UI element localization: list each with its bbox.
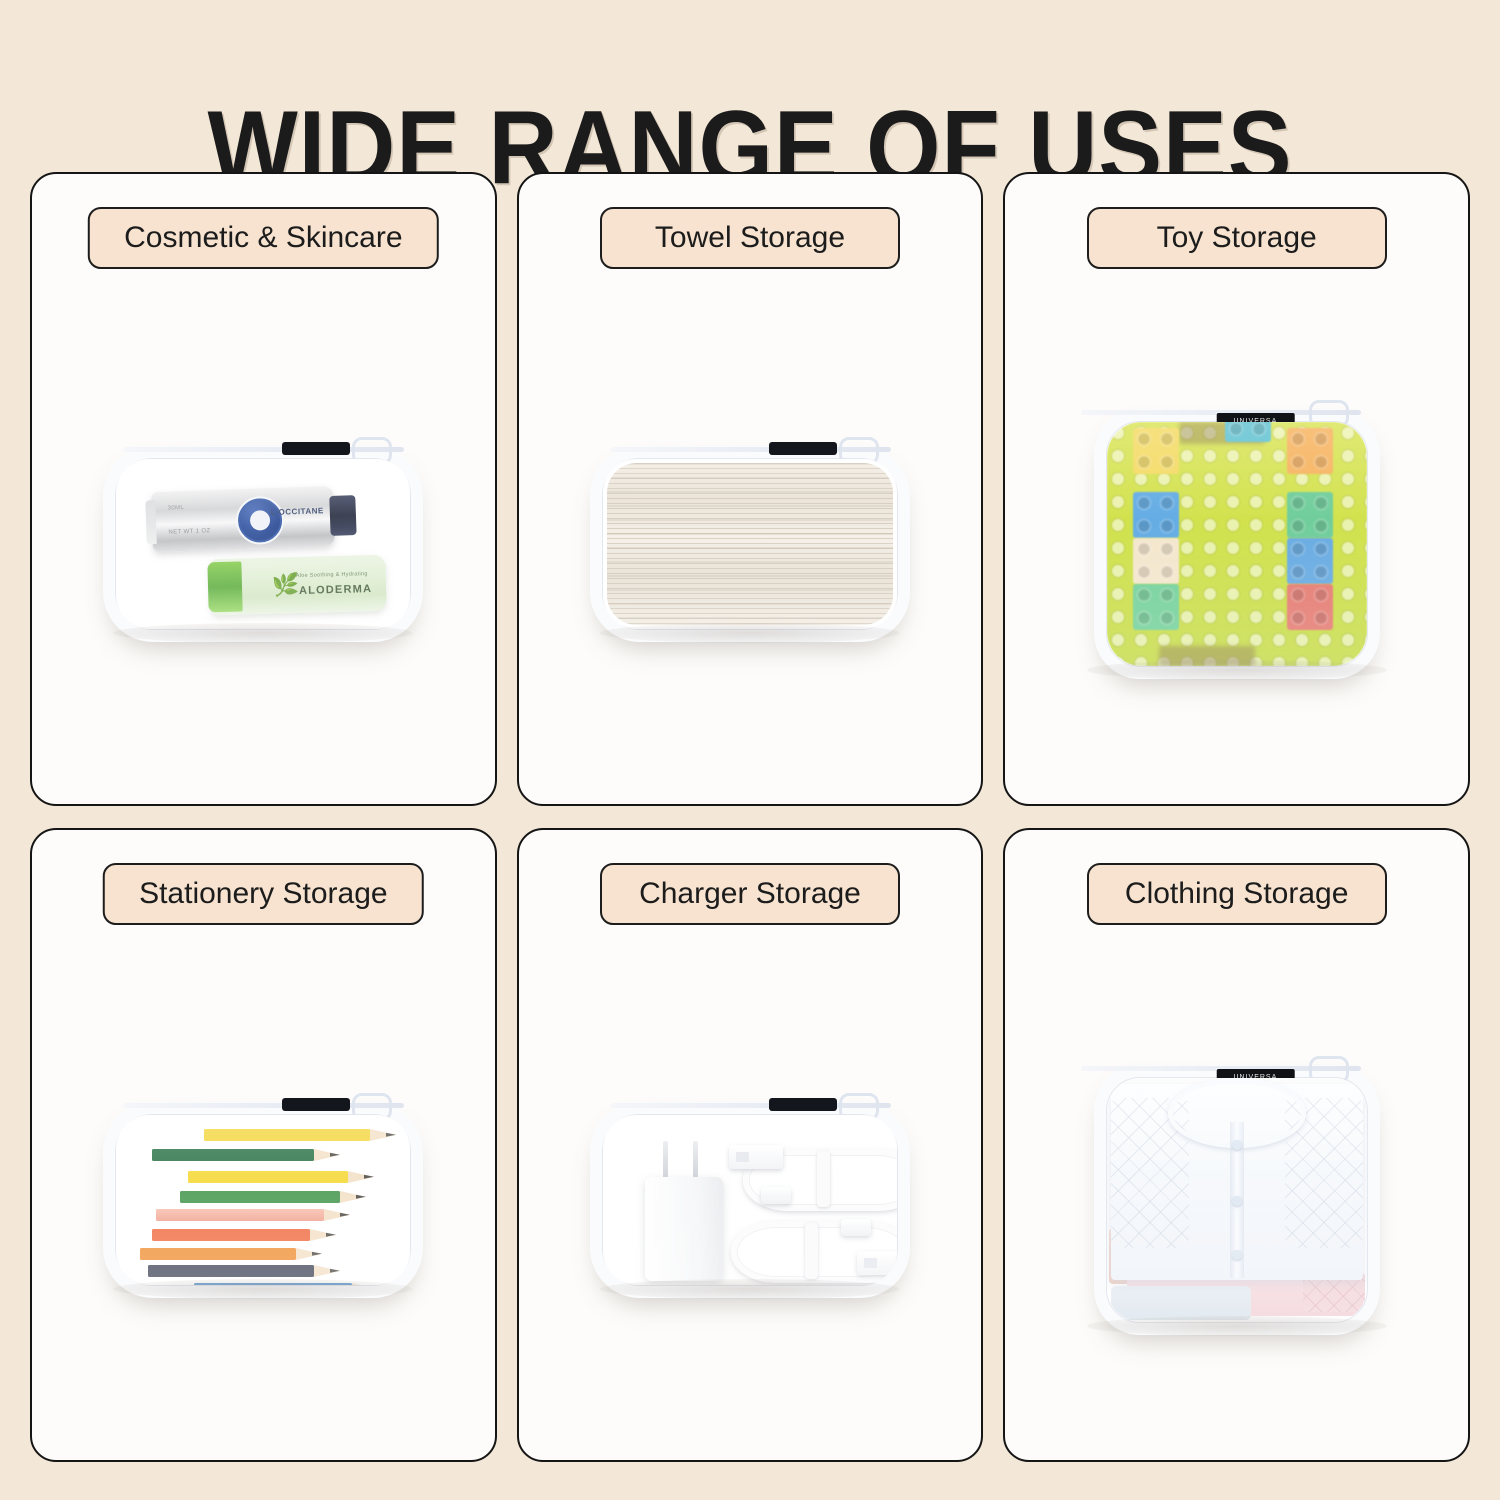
lego-brick-green-right — [1287, 492, 1333, 538]
pouch-window-stationery — [116, 1115, 410, 1285]
card-label-cosmetic-skincare: Cosmetic & Skincare — [88, 207, 438, 269]
card-label-charger-storage: Charger Storage — [600, 863, 900, 925]
charger-prong-right-icon — [693, 1141, 698, 1177]
lego-brick-blue-right — [1287, 538, 1333, 584]
clear-pouch-cosmetic: 30ML NET WT 1 OZ L'OCCITANE 🌿 Aloe Sooth… — [103, 446, 423, 642]
pencil-lead-icon — [364, 1175, 374, 1179]
pencil-dark-green — [152, 1149, 314, 1161]
use-card-stationery-storage: Stationery Storage — [30, 828, 497, 1462]
card-image-stationery-storage — [32, 940, 495, 1460]
pencil-lead-icon — [312, 1252, 322, 1256]
clear-pouch-stationery — [103, 1102, 423, 1298]
usb-c-connector-icon — [761, 1187, 791, 1204]
lego-brick-red — [1287, 584, 1333, 630]
card-image-toy-storage: UNIVERSA — [1005, 284, 1468, 804]
uses-grid: Cosmetic & Skincare 30ML NET WT 1 OZ L'O… — [30, 172, 1470, 1462]
folded-towel — [607, 463, 893, 625]
zipper-towel — [761, 439, 881, 461]
tube-cap-navy-icon — [330, 495, 357, 536]
pencil-lead-icon — [330, 1153, 340, 1157]
clear-pouch-charger — [590, 1102, 910, 1298]
tube-brand-sub-text: Aloe Soothing & Hydrating — [296, 571, 368, 579]
zipper-charger — [761, 1095, 881, 1117]
loccitane-badge-icon — [236, 496, 286, 546]
shirt-button-icon — [1232, 1250, 1242, 1260]
pencil-tip-icon — [352, 1283, 378, 1285]
lego-brick-yellow — [1133, 428, 1179, 474]
pencil-orange — [140, 1248, 296, 1260]
zipper-cosmetic — [274, 439, 394, 461]
pencil-orange-red — [152, 1229, 310, 1241]
card-image-cosmetic-skincare: 30ML NET WT 1 OZ L'OCCITANE 🌿 Aloe Sooth… — [32, 284, 495, 804]
zipper-tape-icon — [611, 447, 891, 452]
lego-brick-green — [1133, 584, 1179, 630]
cable-tie-icon — [817, 1151, 830, 1207]
tube-brand-text-green: ALODERMA — [299, 583, 372, 597]
pencil-yellow-2 — [188, 1171, 348, 1183]
pencil-lead-icon — [330, 1269, 340, 1273]
hand-cream-tube-silver: 30ML NET WT 1 OZ L'OCCITANE — [151, 486, 335, 552]
use-card-clothing-storage: Clothing Storage UNIVERSA — [1003, 828, 1470, 1462]
usb-cable-coil-bottom — [731, 1221, 897, 1283]
use-card-toy-storage: Toy Storage UNIVERSA — [1003, 172, 1470, 806]
card-image-clothing-storage: UNIVERSA — [1005, 940, 1468, 1460]
pencil-lead-icon — [326, 1233, 336, 1237]
use-card-cosmetic-skincare: Cosmetic & Skincare 30ML NET WT 1 OZ L'O… — [30, 172, 497, 806]
zipper-tape-icon — [124, 1103, 404, 1108]
pouch-window-towel — [603, 459, 897, 629]
pencil-lead-icon — [356, 1195, 366, 1199]
clear-pouch-towel — [590, 446, 910, 642]
card-image-towel-storage — [519, 284, 982, 804]
usb-cable-coil-top — [743, 1149, 897, 1211]
aloe-leaf-icon: 🌿 — [272, 570, 299, 601]
shirt-button-icon — [1232, 1140, 1242, 1150]
lego-brick-orange — [1287, 428, 1333, 474]
pouch-window-cosmetic: 30ML NET WT 1 OZ L'OCCITANE 🌿 Aloe Sooth… — [116, 459, 410, 629]
wall-charger-adapter — [645, 1177, 723, 1281]
clear-pouch-toys: UNIVERSA — [1094, 409, 1380, 679]
pencil-navy — [148, 1265, 314, 1277]
pouch-window-toys — [1107, 422, 1367, 666]
pencil-lead-icon — [340, 1213, 350, 1217]
zipper-tape-icon — [611, 1103, 891, 1108]
pencil-yellow-1 — [204, 1129, 370, 1141]
use-card-charger-storage: Charger Storage — [517, 828, 984, 1462]
zipper-tape-icon — [124, 447, 404, 452]
zipper-pull-icon — [282, 442, 350, 455]
usb-a-connector-icon — [857, 1251, 897, 1275]
clear-pouch-clothing: UNIVERSA — [1094, 1065, 1380, 1335]
lego-brick-cream — [1133, 538, 1179, 584]
usb-a-connector-icon — [729, 1145, 783, 1169]
folded-white-shirt — [1111, 1084, 1363, 1280]
card-label-stationery-storage: Stationery Storage — [103, 863, 423, 925]
zipper-pull-icon — [769, 1098, 837, 1111]
tube-volume-text: 30ML — [168, 505, 185, 512]
lego-brick-teal-top — [1225, 422, 1271, 442]
cable-tie-icon — [805, 1223, 818, 1279]
zipper-stationery — [274, 1095, 394, 1117]
card-label-clothing-storage: Clothing Storage — [1087, 863, 1387, 925]
pouch-window-clothing — [1107, 1078, 1367, 1322]
charger-prong-left-icon — [663, 1141, 668, 1177]
pencil-green — [180, 1191, 340, 1203]
zipper-pull-icon — [282, 1098, 350, 1111]
pencil-salmon — [156, 1209, 324, 1221]
garment-stack — [1107, 1078, 1367, 1322]
tube-net-weight-text: NET WT 1 OZ — [169, 528, 211, 535]
zipper-pull-icon — [769, 442, 837, 455]
card-label-towel-storage: Towel Storage — [600, 207, 900, 269]
cream-tube-green: 🌿 Aloe Soothing & Hydrating ALODERMA — [210, 555, 387, 616]
pencil-blue — [194, 1283, 352, 1285]
card-image-charger-storage — [519, 940, 982, 1460]
card-label-toy-storage: Toy Storage — [1087, 207, 1387, 269]
folded-blue-garment — [1111, 1286, 1251, 1320]
usb-c-connector-icon — [841, 1219, 871, 1236]
tube-brand-text: L'OCCITANE — [271, 506, 324, 517]
pouch-window-charger — [603, 1115, 897, 1285]
shirt-button-icon — [1232, 1196, 1242, 1206]
pencil-lead-icon — [386, 1133, 396, 1137]
lego-shadow-band-bottom — [1159, 646, 1255, 666]
lego-brick-blue — [1133, 492, 1179, 538]
use-card-towel-storage: Towel Storage — [517, 172, 984, 806]
